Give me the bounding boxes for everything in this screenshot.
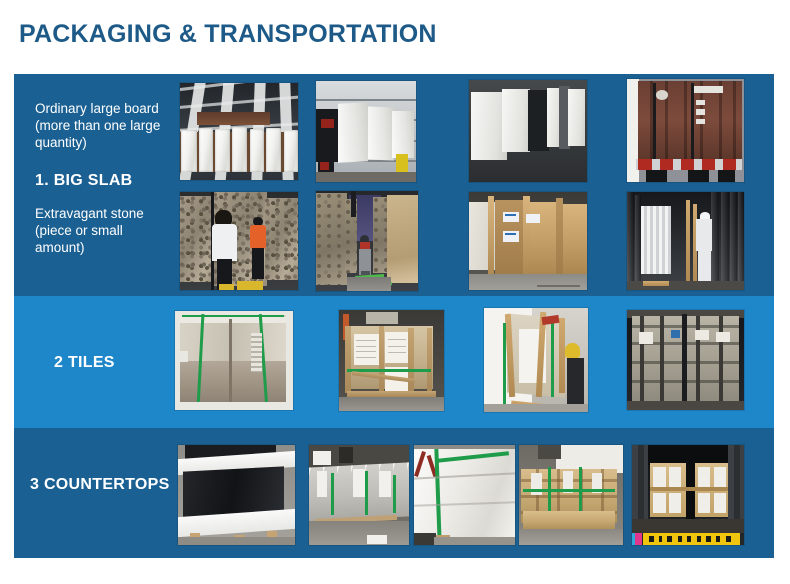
- packaging-panel: Ordinary large board (more than one larg…: [14, 74, 774, 558]
- tiles-label-column: 2 TILES: [14, 296, 179, 428]
- photo-slabs-loading-truck: [316, 81, 416, 182]
- photo-crates-inside-container: [632, 445, 744, 545]
- photo-workers-inspecting-granite: [180, 192, 298, 290]
- photo-worker-slab-yard: [316, 191, 418, 291]
- countertops-heading: 3 COUNTERTOPS: [30, 476, 170, 494]
- section-tiles: 2 TILES: [14, 296, 774, 428]
- photo-wooden-crates-slabs: [469, 192, 587, 290]
- countertops-label-column: 3 COUNTERTOPS: [14, 428, 179, 558]
- tiles-heading: 2 TILES: [54, 354, 115, 372]
- photo-white-wrapped-bundle-straps: [414, 445, 515, 545]
- photo-tile-bundle-strapped: [175, 311, 293, 410]
- photo-crate-pallet-tiles: [339, 310, 444, 411]
- ordinary-large-board-note: Ordinary large board (more than one larg…: [35, 100, 175, 151]
- section-big-slab: Ordinary large board (more than one larg…: [14, 74, 774, 296]
- photo-wooden-crates-green-straps: [519, 445, 623, 545]
- photo-truck-rear-container: [627, 79, 744, 182]
- photo-loading-crates-container: [627, 192, 744, 290]
- photo-container-doors-crates: [627, 310, 744, 410]
- big-slab-label-column: Ordinary large board (more than one larg…: [14, 74, 179, 296]
- page-title: PACKAGING & TRANSPORTATION: [19, 20, 437, 49]
- photo-warehouse-wrapped-slabs: [180, 83, 298, 180]
- photo-black-countertop-packed: [178, 445, 295, 545]
- section-countertops: 3 COUNTERTOPS: [14, 428, 774, 558]
- extravagant-stone-note: Extravagant stone (piece or small amount…: [35, 205, 175, 256]
- photo-marble-countertops-strapped: [309, 445, 409, 545]
- photo-crate-loading-worker: [484, 308, 588, 412]
- photo-slabs-in-container: [469, 80, 587, 182]
- big-slab-heading: 1. BIG SLAB: [35, 172, 133, 190]
